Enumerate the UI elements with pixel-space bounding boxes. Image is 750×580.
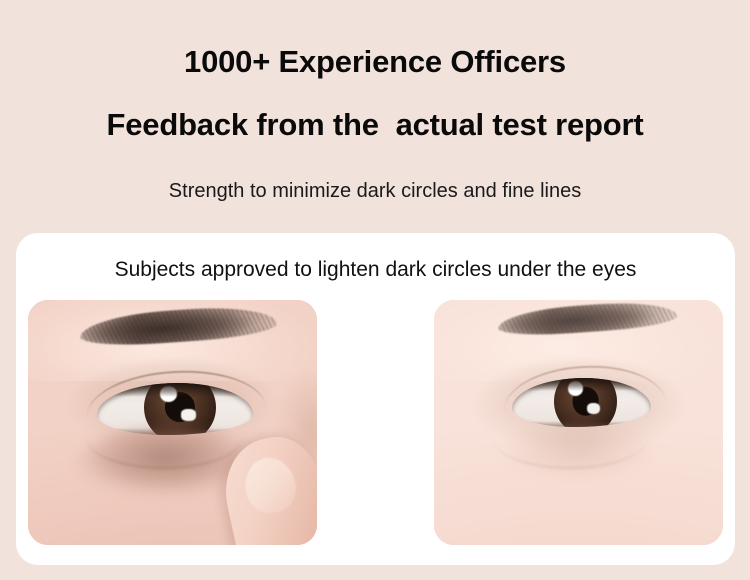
fingernail [240,453,300,517]
eye-glint-secondary [181,409,195,421]
before-photo [28,300,317,545]
upper-eyelash [97,383,253,396]
card-title: Subjects approved to lighten dark circle… [16,258,735,282]
before-photo-image [28,300,317,545]
header-section: 1000+ Experience Officers Feedback from … [0,0,750,233]
after-photo-image [434,300,723,545]
upper-eyelash [512,378,651,391]
headline-primary: 1000+ Experience Officers [0,44,750,80]
after-photo [434,300,723,545]
eye-opening [512,378,651,427]
headline-secondary: Feedback from the actual test report [0,107,750,143]
eye-glint-secondary [587,403,600,414]
header-subtitle: Strength to minimize dark circles and fi… [0,180,750,203]
comparison-card: Subjects approved to lighten dark circle… [16,233,735,565]
